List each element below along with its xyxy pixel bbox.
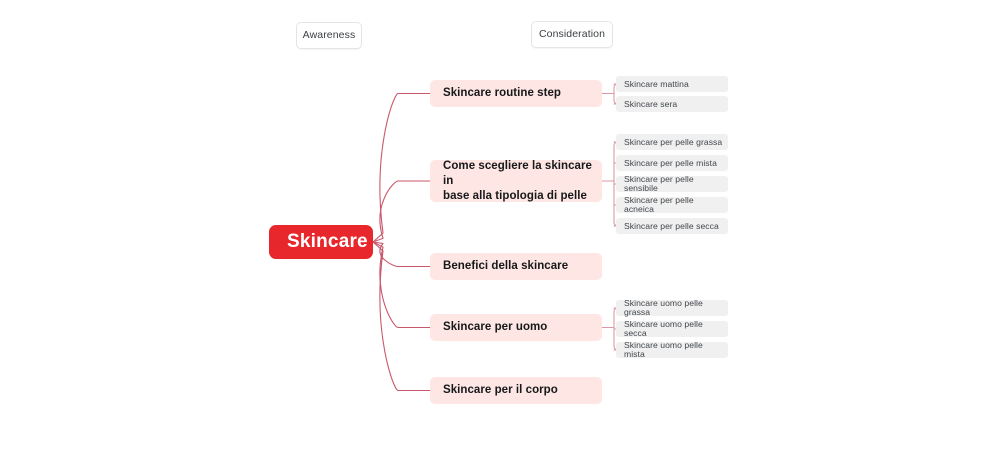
- link-root-to-branch-benefici-della-skincare: [373, 242, 430, 267]
- stage-tag-awareness[interactable]: Awareness: [296, 22, 362, 49]
- root-node-label: Skincare: [287, 231, 368, 253]
- leaf-node-skincare-per-pelle-grassa[interactable]: Skincare per pelle grassa: [616, 134, 728, 150]
- leaf-node-skincare-per-pelle-secca[interactable]: Skincare per pelle secca: [616, 218, 728, 234]
- leaf-node-label: Skincare per pelle mista: [624, 159, 717, 168]
- leaf-node-skincare-per-pelle-mista[interactable]: Skincare per pelle mista: [616, 155, 728, 171]
- leaf-node-skincare-mattina[interactable]: Skincare mattina: [616, 76, 728, 92]
- branch-node-benefici-della-skincare[interactable]: Benefici della skincare: [430, 253, 602, 280]
- leaf-node-label: Skincare mattina: [624, 80, 689, 89]
- leaf-node-skincare-uomo-pelle-mista[interactable]: Skincare uomo pelle mista: [616, 342, 728, 358]
- branch-node-come-scegliere-la-skincare-in-base-alla-ti[interactable]: Come scegliere la skincare inbase alla t…: [430, 160, 602, 202]
- root-node-skincare[interactable]: Skincare: [269, 225, 373, 259]
- stage-tag-label: Awareness: [303, 30, 356, 41]
- branch-node-label-line: base alla tipologia di pelle: [443, 189, 594, 204]
- leaf-node-label: Skincare uomo pelle grassa: [624, 299, 723, 316]
- link-root-to-branch-skincare-per-uomo: [373, 242, 430, 328]
- branch-node-skincare-routine-step[interactable]: Skincare routine step: [430, 80, 602, 107]
- leaf-node-skincare-uomo-pelle-secca[interactable]: Skincare uomo pelle secca: [616, 321, 728, 337]
- branch-node-label-line: Come scegliere la skincare in: [443, 159, 594, 189]
- mindmap-canvas: AwarenessConsideration Skincare Skincare…: [0, 0, 1000, 450]
- leaf-node-label: Skincare per pelle grassa: [624, 138, 722, 147]
- leaf-node-label: Skincare sera: [624, 100, 677, 109]
- leaf-node-skincare-per-pelle-sensibile[interactable]: Skincare per pelle sensibile: [616, 176, 728, 192]
- branch-node-label: Benefici della skincare: [443, 259, 568, 274]
- leaf-node-label: Skincare uomo pelle secca: [624, 320, 723, 337]
- branch-node-skincare-per-il-corpo[interactable]: Skincare per il corpo: [430, 377, 602, 404]
- branch-node-label: Come scegliere la skincare inbase alla t…: [443, 159, 594, 204]
- link-root-to-branch-skincare-per-il-corpo: [373, 242, 430, 391]
- leaf-node-label: Skincare uomo pelle mista: [624, 341, 723, 358]
- link-root-to-branch-skincare-routine-step: [373, 94, 430, 243]
- branch-node-skincare-per-uomo[interactable]: Skincare per uomo: [430, 314, 602, 341]
- leaf-node-label: Skincare per pelle secca: [624, 222, 719, 231]
- stage-tag-consideration[interactable]: Consideration: [531, 21, 613, 48]
- leaf-node-label: Skincare per pelle sensibile: [624, 175, 723, 192]
- branch-node-label: Skincare per uomo: [443, 320, 547, 335]
- leaf-node-skincare-sera[interactable]: Skincare sera: [616, 96, 728, 112]
- leaf-node-label: Skincare per pelle acneica: [624, 196, 723, 213]
- branch-node-label: Skincare per il corpo: [443, 383, 558, 398]
- stage-tag-label: Consideration: [539, 29, 605, 40]
- branch-node-label: Skincare routine step: [443, 86, 561, 101]
- leaf-node-skincare-per-pelle-acneica[interactable]: Skincare per pelle acneica: [616, 197, 728, 213]
- link-root-to-branch-come-scegliere-la-skincare-in-base-alla-ti: [373, 181, 430, 242]
- leaf-node-skincare-uomo-pelle-grassa[interactable]: Skincare uomo pelle grassa: [616, 300, 728, 316]
